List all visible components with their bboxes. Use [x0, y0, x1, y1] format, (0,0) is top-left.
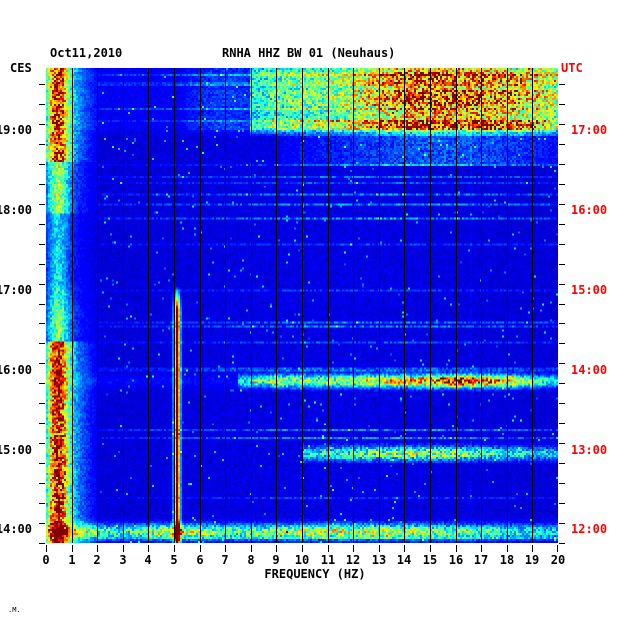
right-tick-minor: [559, 463, 565, 464]
bottom-tick: [404, 545, 405, 552]
bottom-tick: [302, 545, 303, 552]
bottom-tick: [174, 545, 175, 552]
right-tick-minor: [559, 363, 565, 364]
right-tick-minor: [559, 423, 565, 424]
right-tick-minor: [559, 543, 565, 544]
left-tick-minor: [39, 523, 45, 524]
right-tick-minor: [559, 443, 565, 444]
left-tick-minor: [39, 383, 45, 384]
left-tick-minor: [39, 164, 45, 165]
right-tick-minor: [559, 503, 565, 504]
right-axis-label: 13:00: [571, 443, 607, 457]
right-axis-label: 14:00: [571, 363, 607, 377]
right-axis-label: 12:00: [571, 522, 607, 536]
bottom-tick: [481, 545, 482, 552]
left-tick-minor: [39, 463, 45, 464]
right-tick-minor: [559, 184, 565, 185]
bottom-axis-label: 20: [543, 553, 573, 567]
bottom-tick: [532, 545, 533, 552]
left-tick-minor: [39, 84, 45, 85]
right-tick-minor: [559, 284, 565, 285]
left-axis-label: 15:00: [0, 443, 32, 457]
bottom-tick: [72, 545, 73, 552]
left-tick-minor: [39, 184, 45, 185]
left-tick-minor: [39, 264, 45, 265]
right-tick-minor: [559, 483, 565, 484]
bottom-tick: [507, 545, 508, 552]
corner-mark: .M.: [8, 606, 21, 614]
left-axis-label: 19:00: [0, 123, 32, 137]
left-tick-minor: [39, 343, 45, 344]
left-tick-minor: [39, 144, 45, 145]
xaxis-title: FREQUENCY (HZ): [0, 567, 630, 581]
bottom-tick: [123, 545, 124, 552]
left-tick-minor: [39, 224, 45, 225]
left-axis-label: 14:00: [0, 522, 32, 536]
bottom-tick: [97, 545, 98, 552]
bottom-tick: [46, 545, 47, 552]
left-tick-minor: [39, 284, 45, 285]
bottom-tick: [276, 545, 277, 552]
right-axis-label: 17:00: [571, 123, 607, 137]
left-tick-minor: [39, 363, 45, 364]
bottom-tick: [148, 545, 149, 552]
bottom-tick: [557, 545, 558, 552]
left-tick-minor: [39, 503, 45, 504]
left-tick-minor: [39, 423, 45, 424]
bottom-tick: [456, 545, 457, 552]
left-tick-minor: [39, 124, 45, 125]
right-tick-minor: [559, 343, 565, 344]
left-tick-minor: [39, 244, 45, 245]
left-tick-minor: [39, 543, 45, 544]
left-tick-minor: [39, 104, 45, 105]
bottom-tick: [251, 545, 252, 552]
left-axis-label: 18:00: [0, 203, 32, 217]
right-axis-header: UTC: [561, 61, 583, 75]
left-axis-header: CES: [10, 61, 32, 75]
right-tick-minor: [559, 144, 565, 145]
right-tick-minor: [559, 383, 565, 384]
right-tick-minor: [559, 323, 565, 324]
right-tick-minor: [559, 84, 565, 85]
bottom-tick: [200, 545, 201, 552]
left-tick-minor: [39, 483, 45, 484]
left-tick-minor: [39, 323, 45, 324]
left-axis-label: 17:00: [0, 283, 32, 297]
date-title: Oct11,2010: [50, 46, 122, 60]
bottom-tick: [430, 545, 431, 552]
bottom-tick: [328, 545, 329, 552]
left-tick-minor: [39, 304, 45, 305]
right-tick-minor: [559, 304, 565, 305]
spectrogram-page: Oct11,2010 RNHA HHZ BW 01 (Neuhaus) CES …: [0, 0, 630, 624]
right-tick-minor: [559, 204, 565, 205]
right-tick-minor: [559, 244, 565, 245]
bottom-tick: [353, 545, 354, 552]
left-tick-minor: [39, 443, 45, 444]
right-tick-minor: [559, 124, 565, 125]
station-title: RNHA HHZ BW 01 (Neuhaus): [222, 46, 395, 60]
left-tick-minor: [39, 204, 45, 205]
left-axis-label: 16:00: [0, 363, 32, 377]
right-axis-label: 15:00: [571, 283, 607, 297]
right-tick-minor: [559, 164, 565, 165]
bottom-tick: [379, 545, 380, 552]
right-tick-minor: [559, 523, 565, 524]
right-tick-minor: [559, 224, 565, 225]
spectrogram-plot: [46, 68, 558, 543]
spectrogram-image: [46, 68, 558, 543]
right-tick-minor: [559, 403, 565, 404]
bottom-tick: [225, 545, 226, 552]
right-tick-minor: [559, 104, 565, 105]
right-tick-minor: [559, 264, 565, 265]
left-tick-minor: [39, 403, 45, 404]
right-axis-label: 16:00: [571, 203, 607, 217]
